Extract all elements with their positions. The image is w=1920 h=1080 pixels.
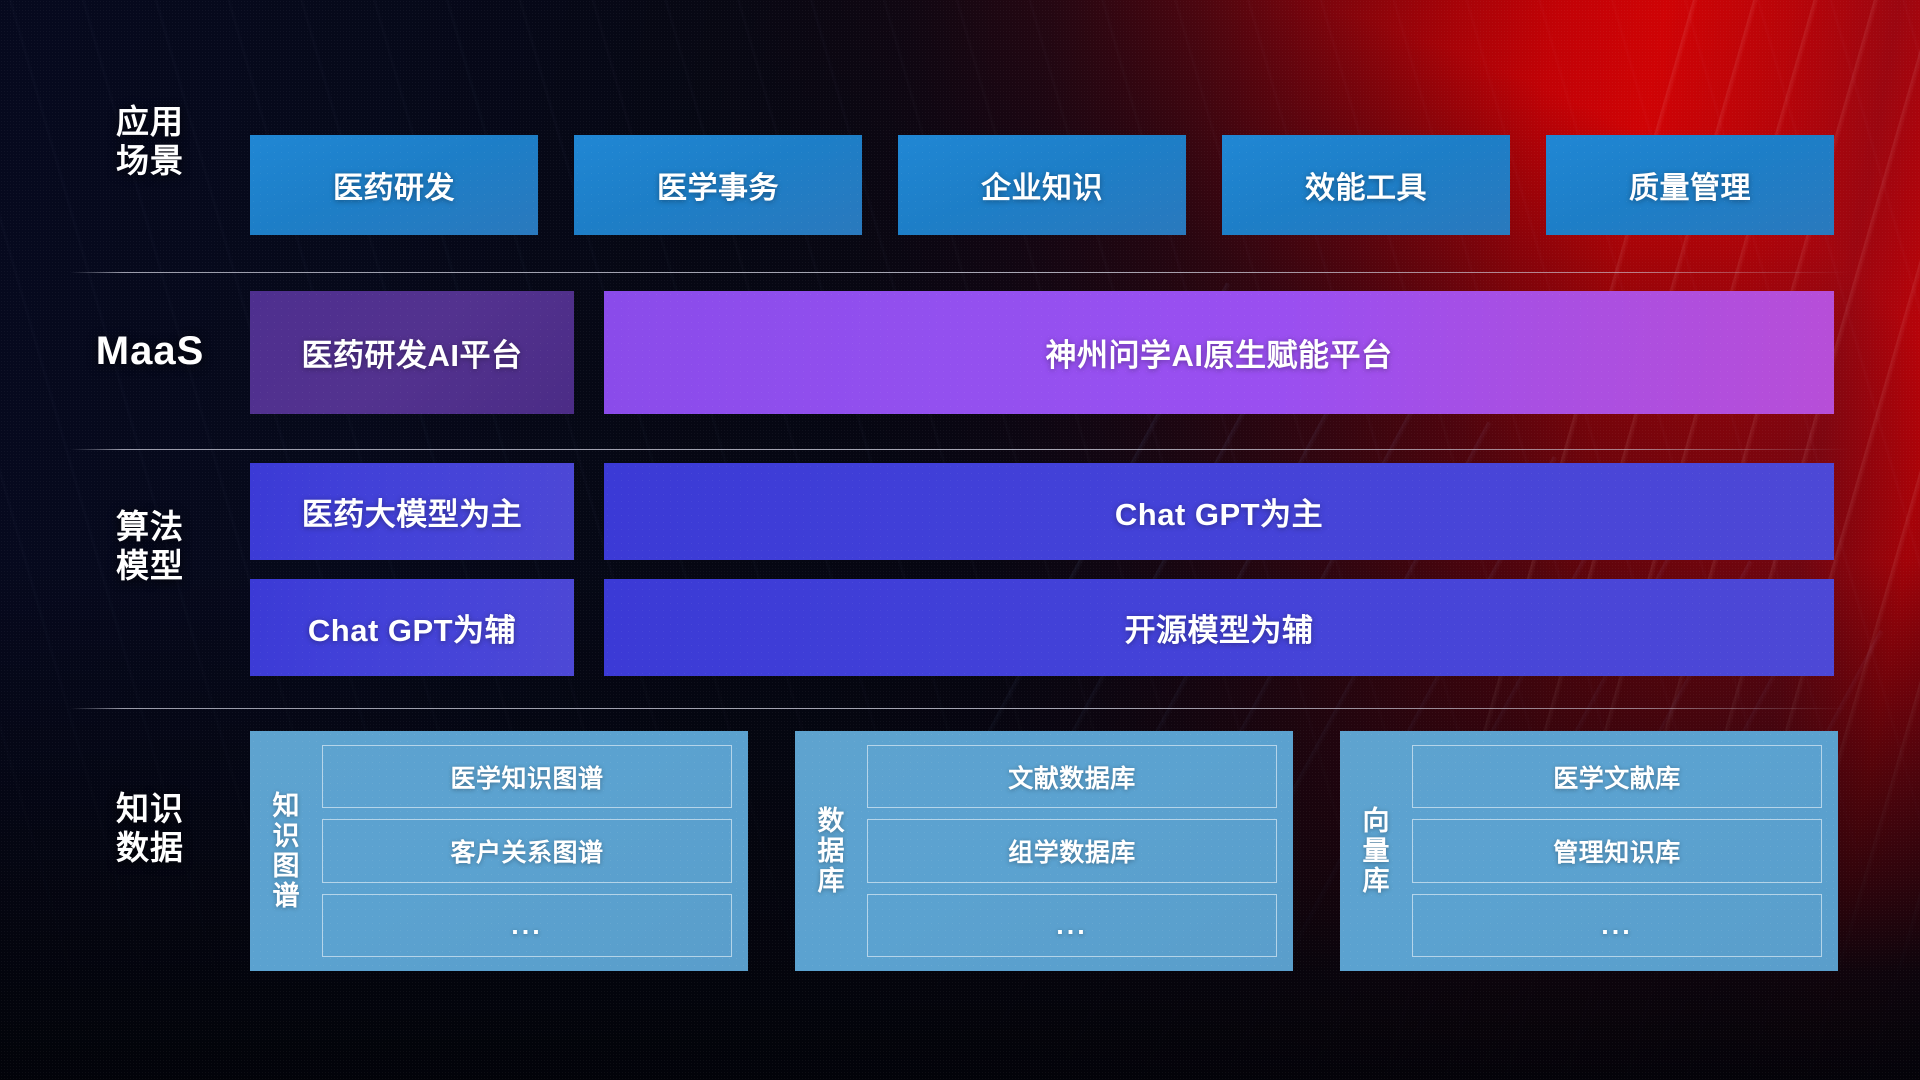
block-label: 质量管理 [1629, 163, 1751, 207]
knowledge-item-list: 医学文献库管理知识库... [1412, 745, 1822, 957]
block-label: 医药研发AI平台 [302, 330, 523, 375]
block-label: 医药研发 [333, 163, 455, 207]
row-label-application-scenarios: 应用 场景 [70, 103, 230, 181]
title-char: 数 [818, 806, 845, 836]
knowledge-item-more[interactable]: ... [867, 894, 1277, 957]
diagram-content: 应用 场景医药研发医学事务企业知识效能工具质量管理MaaS医药研发AI平台神州问… [0, 0, 1920, 1080]
block-label: 医药大模型为主 [302, 489, 523, 534]
row-label-knowledge-data: 知识 数据 [70, 790, 230, 868]
title-char: 量 [1363, 836, 1390, 866]
knowledge-group[interactable]: 向量库医学文献库管理知识库... [1340, 731, 1838, 971]
row-label-maas: MaaS [70, 328, 230, 375]
knowledge-item[interactable]: 客户关系图谱 [322, 819, 732, 882]
title-char: 识 [273, 821, 300, 851]
block-application-scenarios[interactable]: 医学事务 [574, 135, 862, 235]
block-label: 企业知识 [981, 163, 1103, 207]
block-label: 神州问学AI原生赋能平台 [1046, 330, 1393, 375]
block-label: Chat GPT为辅 [308, 605, 516, 650]
knowledge-item-list: 医学知识图谱客户关系图谱... [322, 745, 732, 957]
block-label: 效能工具 [1305, 163, 1427, 207]
knowledge-item[interactable]: 医学文献库 [1412, 745, 1822, 808]
knowledge-group-title: 知识图谱 [264, 791, 308, 912]
knowledge-group-title: 向量库 [1354, 806, 1398, 897]
title-char: 库 [1363, 866, 1390, 896]
block-label: Chat GPT为主 [1115, 489, 1323, 534]
knowledge-item-more[interactable]: ... [322, 894, 732, 957]
section-divider-1 [70, 272, 1850, 273]
block-label: 开源模型为辅 [1125, 605, 1314, 650]
title-char: 谱 [273, 881, 300, 911]
block-label: 医学事务 [657, 163, 779, 207]
title-char: 知 [273, 791, 300, 821]
knowledge-item[interactable]: 医学知识图谱 [322, 745, 732, 808]
knowledge-item-list: 文献数据库组学数据库... [867, 745, 1277, 957]
knowledge-group[interactable]: 数据库文献数据库组学数据库... [795, 731, 1293, 971]
row-label-algorithm-model: 算法 模型 [70, 508, 230, 586]
block-application-scenarios[interactable]: 效能工具 [1222, 135, 1510, 235]
diagram-canvas: 应用 场景医药研发医学事务企业知识效能工具质量管理MaaS医药研发AI平台神州问… [0, 0, 1920, 1080]
title-char: 据 [818, 836, 845, 866]
block-algorithm-model[interactable]: Chat GPT为主 [604, 463, 1834, 560]
block-algorithm-model[interactable]: 开源模型为辅 [604, 579, 1834, 676]
knowledge-group-title: 数据库 [809, 806, 853, 897]
block-application-scenarios[interactable]: 质量管理 [1546, 135, 1834, 235]
title-char: 库 [818, 866, 845, 896]
block-application-scenarios[interactable]: 医药研发 [250, 135, 538, 235]
block-algorithm-model[interactable]: 医药大模型为主 [250, 463, 574, 560]
block-maas[interactable]: 医药研发AI平台 [250, 291, 574, 414]
knowledge-item[interactable]: 管理知识库 [1412, 819, 1822, 882]
block-maas[interactable]: 神州问学AI原生赋能平台 [604, 291, 1834, 414]
section-divider-3 [70, 708, 1850, 709]
block-algorithm-model[interactable]: Chat GPT为辅 [250, 579, 574, 676]
knowledge-group[interactable]: 知识图谱医学知识图谱客户关系图谱... [250, 731, 748, 971]
knowledge-item-more[interactable]: ... [1412, 894, 1822, 957]
title-char: 向 [1363, 806, 1390, 836]
section-divider-2 [70, 449, 1850, 450]
knowledge-item[interactable]: 组学数据库 [867, 819, 1277, 882]
title-char: 图 [273, 851, 300, 881]
block-application-scenarios[interactable]: 企业知识 [898, 135, 1186, 235]
knowledge-item[interactable]: 文献数据库 [867, 745, 1277, 808]
